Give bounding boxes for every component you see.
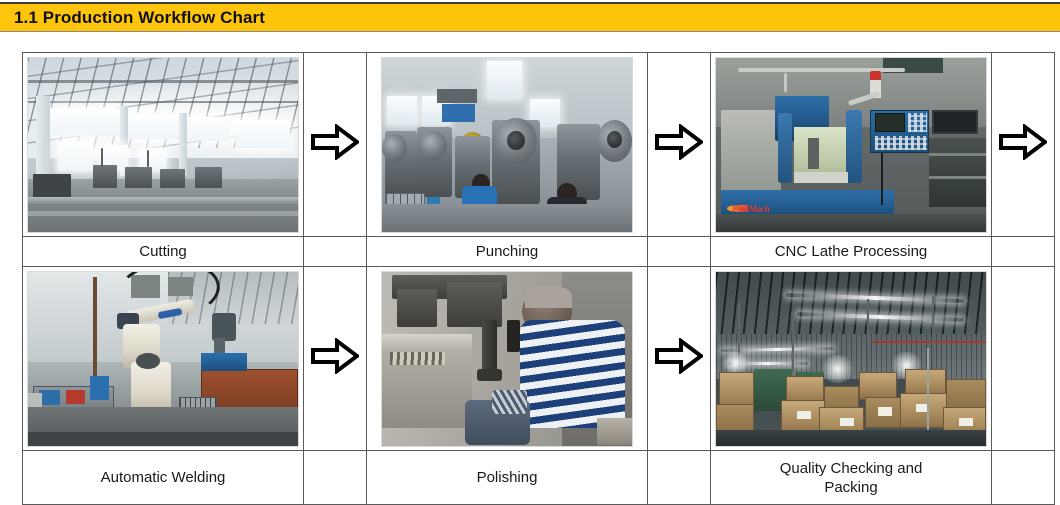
spacer-cell bbox=[992, 451, 1055, 505]
photo-warehouse-stacked-cartons bbox=[715, 271, 987, 447]
photo-blue-cnc-machine: FineMach bbox=[715, 57, 987, 233]
photo-cell-cnc-lathe: FineMach bbox=[711, 53, 992, 237]
right-block-arrow-icon bbox=[311, 338, 359, 374]
arrow-cell-welding-to-polishing bbox=[304, 267, 367, 451]
photo-welding-robot-arm bbox=[27, 271, 299, 447]
right-block-arrow-icon bbox=[655, 124, 703, 160]
production-workflow-table: FineMach Cutting Punching CNC Lathe Proc… bbox=[22, 52, 1055, 505]
spacer-cell bbox=[992, 267, 1055, 451]
arrow-cell-punching-to-cnc bbox=[648, 53, 711, 237]
photo-worker-polishing-at-drill-press bbox=[381, 271, 633, 447]
arrow-cell-polishing-to-packing bbox=[648, 267, 711, 451]
section-header-banner: 1.1 Production Workflow Chart bbox=[0, 2, 1060, 32]
spacer-cell bbox=[648, 451, 711, 505]
step-label-quality-checking-and-packing: Quality Checking and Packing bbox=[711, 451, 992, 505]
page-title: 1.1 Production Workflow Chart bbox=[0, 8, 265, 28]
table-row: Cutting Punching CNC Lathe Processing bbox=[23, 237, 1055, 267]
spacer-cell bbox=[304, 237, 367, 267]
photo-cell-punching bbox=[367, 53, 648, 237]
right-block-arrow-icon bbox=[999, 124, 1047, 160]
cnc-machine-brand-label: FineMach bbox=[732, 204, 769, 214]
table-row: Automatic Welding Polishing Quality Chec… bbox=[23, 451, 1055, 505]
spacer-cell bbox=[304, 451, 367, 505]
spacer-cell bbox=[992, 237, 1055, 267]
arrow-cell-cnc-to-next bbox=[992, 53, 1055, 237]
photo-factory-hall-cutting-line bbox=[27, 57, 299, 233]
photo-cell-quality-checking-packing bbox=[711, 267, 992, 451]
photo-punching-presses-with-workers bbox=[381, 57, 633, 233]
step-label-punching: Punching bbox=[367, 237, 648, 267]
photo-cell-cutting bbox=[23, 53, 304, 237]
step-label-polishing: Polishing bbox=[367, 451, 648, 505]
spacer-cell bbox=[648, 237, 711, 267]
arrow-cell-cutting-to-punching bbox=[304, 53, 367, 237]
table-row bbox=[23, 267, 1055, 451]
step-label-cutting: Cutting bbox=[23, 237, 304, 267]
right-block-arrow-icon bbox=[655, 338, 703, 374]
photo-cell-polishing bbox=[367, 267, 648, 451]
step-label-cnc-lathe-processing: CNC Lathe Processing bbox=[711, 237, 992, 267]
right-block-arrow-icon bbox=[311, 124, 359, 160]
photo-cell-automatic-welding bbox=[23, 267, 304, 451]
step-label-automatic-welding: Automatic Welding bbox=[23, 451, 304, 505]
table-row: FineMach bbox=[23, 53, 1055, 237]
